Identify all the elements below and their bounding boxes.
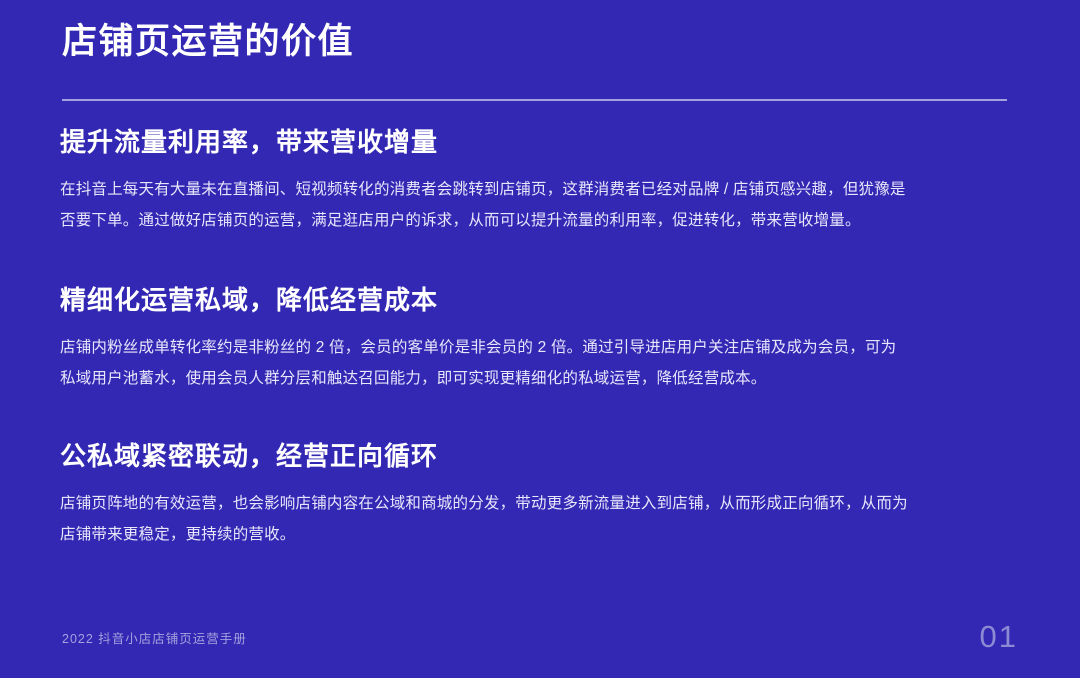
section-body-2-line-1: 店铺内粉丝成单转化率约是非粉丝的 2 倍，会员的客单价是非会员的 2 倍。通过引… [60, 332, 1016, 363]
title-block: 店铺页运营的价值 [62, 18, 1008, 66]
section-body-1-line-2: 否要下单。通过做好店铺页的运营，满足逛店用户的诉求，从而可以提升流量的利用率，促… [60, 205, 1016, 236]
section-body-2: 店铺内粉丝成单转化率约是非粉丝的 2 倍，会员的客单价是非会员的 2 倍。通过引… [60, 332, 1016, 394]
section-heading-2: 精细化运营私域，降低经营成本 [60, 282, 1018, 318]
section-body-1: 在抖音上每天有大量未在直播间、短视频转化的消费者会跳转到店铺页，这群消费者已经对… [60, 174, 1016, 236]
section-block-2: 精细化运营私域，降低经营成本 店铺内粉丝成单转化率约是非粉丝的 2 倍，会员的客… [58, 282, 1018, 394]
slide-canvas: 店铺页运营的价值 提升流量利用率，带来营收增量 在抖音上每天有大量未在直播间、短… [0, 0, 1080, 678]
section-block-3: 公私域紧密联动，经营正向循环 店铺页阵地的有效运营，也会影响店铺内容在公域和商城… [58, 438, 1018, 550]
section-body-2-line-2: 私域用户池蓄水，使用会员人群分层和触达召回能力，即可实现更精细化的私域运营，降低… [60, 363, 1016, 394]
section-body-3: 店铺页阵地的有效运营，也会影响店铺内容在公域和商城的分发，带动更多新流量进入到店… [60, 488, 1016, 550]
section-block-1: 提升流量利用率，带来营收增量 在抖音上每天有大量未在直播间、短视频转化的消费者会… [58, 124, 1018, 236]
section-body-1-line-1: 在抖音上每天有大量未在直播间、短视频转化的消费者会跳转到店铺页，这群消费者已经对… [60, 174, 1016, 205]
section-body-3-line-2: 店铺带来更稳定，更持续的营收。 [60, 519, 1016, 550]
section-heading-1: 提升流量利用率，带来营收增量 [60, 124, 1018, 160]
section-body-3-line-1: 店铺页阵地的有效运营，也会影响店铺内容在公域和商城的分发，带动更多新流量进入到店… [60, 488, 1016, 519]
content-sections: 提升流量利用率，带来营收增量 在抖音上每天有大量未在直播间、短视频转化的消费者会… [58, 124, 1018, 550]
page-number: 01 [980, 618, 1018, 656]
page-title: 店铺页运营的价值 [62, 18, 1008, 66]
title-divider [62, 99, 1007, 101]
footer-label: 2022 抖音小店店铺页运营手册 [62, 630, 247, 648]
slide-footer: 2022 抖音小店店铺页运营手册 01 [62, 624, 1018, 654]
section-heading-3: 公私域紧密联动，经营正向循环 [60, 438, 1018, 474]
